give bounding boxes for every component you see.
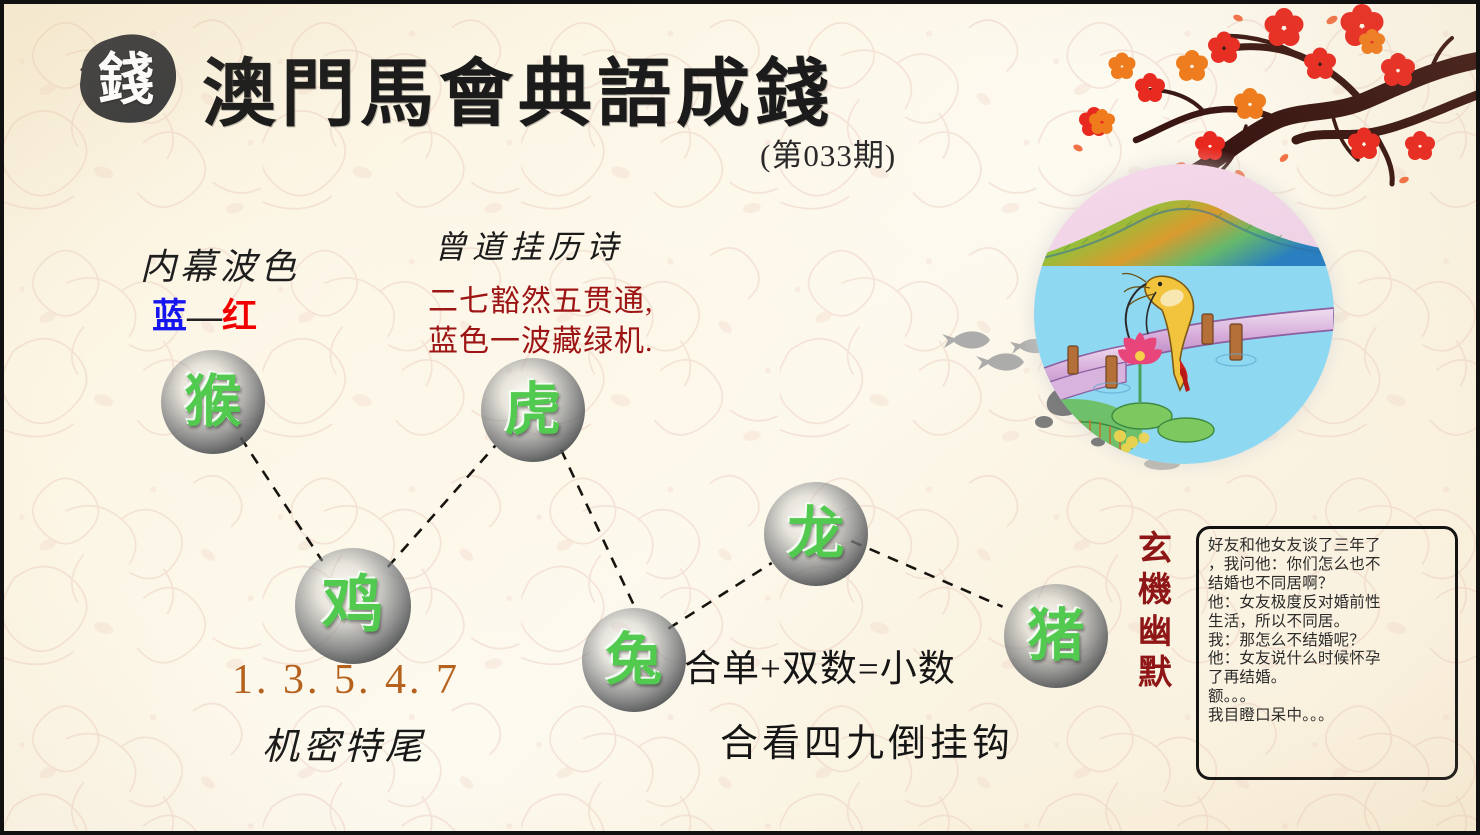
- zodiac-circle-dragon[interactable]: 龙: [764, 482, 868, 586]
- link-rabbit-dragon: [668, 563, 771, 629]
- special-tail-numbers: 1. 3. 5. 4. 7: [232, 656, 460, 704]
- poster-canvas: 錢 澳門馬會典語成錢 (第033期) 内幕波色 蓝—红 曾道挂历诗 二七豁然五贯…: [0, 0, 1480, 835]
- zodiac-label: 虎: [505, 382, 562, 439]
- color-red-text: 红: [222, 297, 257, 336]
- issue-number: (第033期): [760, 130, 896, 175]
- humor-line: 我：那怎么不结婚呢？: [1208, 632, 1446, 651]
- humor-line: 他：女友极度反对婚前性: [1208, 594, 1446, 613]
- hekan-text: 合看四九倒挂钩: [720, 712, 1014, 767]
- link-dragon-pig: [851, 541, 1002, 607]
- inside-color-label: 内幕波色: [140, 238, 300, 290]
- watercolor-scene: [1034, 164, 1334, 464]
- humor-line: 我目瞪口呆中。。。: [1208, 707, 1446, 726]
- humor-section-label: 玄 機 幽 默: [1132, 529, 1178, 695]
- zodiac-circle-rabbit[interactable]: 兔: [582, 608, 686, 712]
- link-rooster-tiger: [388, 446, 495, 567]
- humor-label-char-1: 玄: [1132, 529, 1178, 570]
- zodiac-label: 龙: [788, 506, 845, 563]
- humor-label-char-4: 默: [1132, 653, 1178, 694]
- ink-blot-logo: 錢: [66, 26, 186, 128]
- zodiac-label: 鸡: [322, 575, 384, 637]
- poem-line-1: 二七豁然五贯通,: [428, 282, 654, 322]
- humor-line: 他：女友说什么时候怀孕: [1208, 650, 1446, 669]
- poem-body: 二七豁然五贯通, 蓝色一波藏绿机.: [428, 282, 654, 361]
- humor-line: 了再结婚。: [1208, 669, 1446, 688]
- humor-line: 生活，所以不同居。: [1208, 613, 1446, 632]
- circular-landscape-illustration: [1034, 164, 1334, 464]
- zodiac-circle-pig[interactable]: 猪: [1004, 584, 1108, 688]
- special-tail-label: 机密特尾: [262, 716, 426, 770]
- humor-text-box: 好友和他女友谈了三年了 ，我问他：你们怎么也不 结婚也不同居啊？ 他：女友极度反…: [1196, 526, 1458, 780]
- humor-label-char-3: 幽: [1132, 612, 1178, 653]
- page-title: 澳門馬會典語成錢: [202, 34, 834, 141]
- humor-line: ，我问他：你们怎么也不: [1208, 556, 1446, 575]
- humor-label-char-2: 機: [1132, 570, 1178, 611]
- logo-glyph: 錢: [66, 26, 186, 128]
- inside-color-value: 蓝—红: [152, 288, 257, 339]
- zodiac-label: 猴: [185, 374, 242, 431]
- humor-line: 额。。。: [1208, 688, 1446, 707]
- zodiac-circle-tiger[interactable]: 虎: [481, 358, 585, 462]
- humor-line: 好友和他女友谈了三年了: [1208, 537, 1446, 556]
- poem-line-2: 蓝色一波藏绿机.: [428, 322, 654, 362]
- zodiac-circle-monkey[interactable]: 猴: [161, 350, 265, 454]
- link-monkey-rooster: [241, 438, 323, 561]
- link-tiger-rabbit: [561, 450, 635, 607]
- poem-title: 曾道挂历诗: [434, 222, 624, 268]
- color-dash: —: [187, 297, 222, 336]
- zodiac-circle-rooster[interactable]: 鸡: [295, 548, 411, 664]
- formula-text: 合单+双数=小数: [684, 638, 956, 692]
- humor-line: 结婚也不同居啊？: [1208, 575, 1446, 594]
- zodiac-label: 兔: [606, 632, 663, 689]
- color-blue-text: 蓝: [152, 297, 187, 336]
- zodiac-label: 猪: [1028, 608, 1085, 665]
